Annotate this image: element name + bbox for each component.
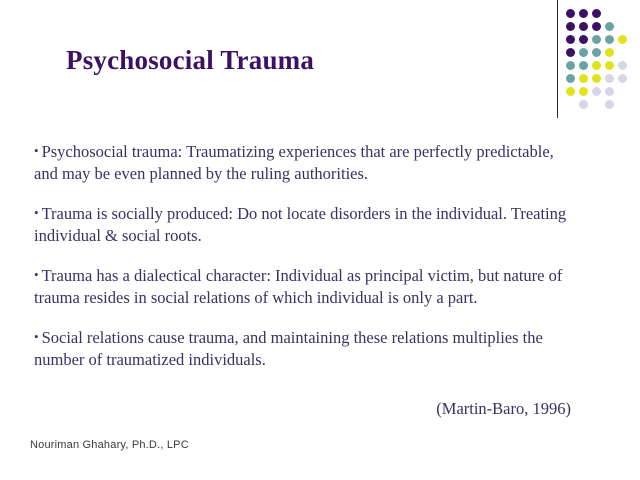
grid-dot-teal bbox=[605, 35, 614, 44]
grid-dot-purple bbox=[579, 22, 588, 31]
body-content: •Psychosocial trauma: Traumatizing exper… bbox=[34, 140, 579, 371]
grid-dot-teal bbox=[579, 48, 588, 57]
grid-dot-yellow bbox=[592, 74, 601, 83]
grid-dot-lavender bbox=[605, 87, 614, 96]
grid-dot-yellow bbox=[579, 74, 588, 83]
grid-dot-lavender bbox=[605, 100, 614, 109]
grid-dot-teal bbox=[592, 35, 601, 44]
grid-dot-yellow bbox=[579, 87, 588, 96]
grid-dot-purple bbox=[566, 48, 575, 57]
grid-dot-yellow bbox=[566, 87, 575, 96]
grid-dot-purple bbox=[566, 9, 575, 18]
grid-dot-teal bbox=[566, 74, 575, 83]
bullet-marker-icon: • bbox=[34, 205, 42, 220]
grid-dot-lavender bbox=[592, 87, 601, 96]
bullet-text: Social relations cause trauma, and maint… bbox=[34, 328, 543, 369]
grid-dot-lavender bbox=[618, 61, 627, 70]
bullet-marker-icon: • bbox=[34, 143, 42, 158]
slide-canvas: Psychosocial Trauma •Psychosocial trauma… bbox=[0, 0, 640, 480]
page-title: Psychosocial Trauma bbox=[66, 44, 314, 76]
bullet-marker-icon: • bbox=[34, 267, 42, 282]
grid-dot-purple bbox=[566, 35, 575, 44]
grid-dot-yellow bbox=[605, 48, 614, 57]
vertical-rule bbox=[557, 0, 558, 118]
grid-dot-teal bbox=[579, 61, 588, 70]
grid-dot-teal bbox=[592, 48, 601, 57]
grid-dot-teal bbox=[566, 61, 575, 70]
bullet-text: Trauma has a dialectical character: Indi… bbox=[34, 266, 562, 307]
bullet-item: •Psychosocial trauma: Traumatizing exper… bbox=[34, 140, 579, 185]
grid-dot-purple bbox=[592, 22, 601, 31]
bullet-item: •Social relations cause trauma, and main… bbox=[34, 326, 579, 371]
grid-dot-yellow bbox=[592, 61, 601, 70]
grid-dot-lavender bbox=[605, 74, 614, 83]
grid-dot-lavender bbox=[579, 100, 588, 109]
bullet-marker-icon: • bbox=[34, 329, 42, 344]
grid-dot-lavender bbox=[618, 74, 627, 83]
bullet-text: Psychosocial trauma: Traumatizing experi… bbox=[34, 142, 554, 183]
grid-dot-yellow bbox=[618, 35, 627, 44]
footer-author: Nouriman Ghahary, Ph.D., LPC bbox=[30, 438, 189, 452]
grid-dot-purple bbox=[579, 35, 588, 44]
bullet-item: •Trauma is socially produced: Do not loc… bbox=[34, 202, 579, 247]
dot-grid-decoration bbox=[552, 0, 640, 122]
grid-dot-purple bbox=[566, 22, 575, 31]
grid-dot-teal bbox=[605, 22, 614, 31]
grid-dot-yellow bbox=[605, 61, 614, 70]
citation-text: (Martin-Baro, 1996) bbox=[34, 398, 571, 420]
bullet-text: Trauma is socially produced: Do not loca… bbox=[34, 204, 566, 245]
grid-dot-purple bbox=[579, 9, 588, 18]
bullet-item: •Trauma has a dialectical character: Ind… bbox=[34, 264, 579, 309]
grid-dot-purple bbox=[592, 9, 601, 18]
